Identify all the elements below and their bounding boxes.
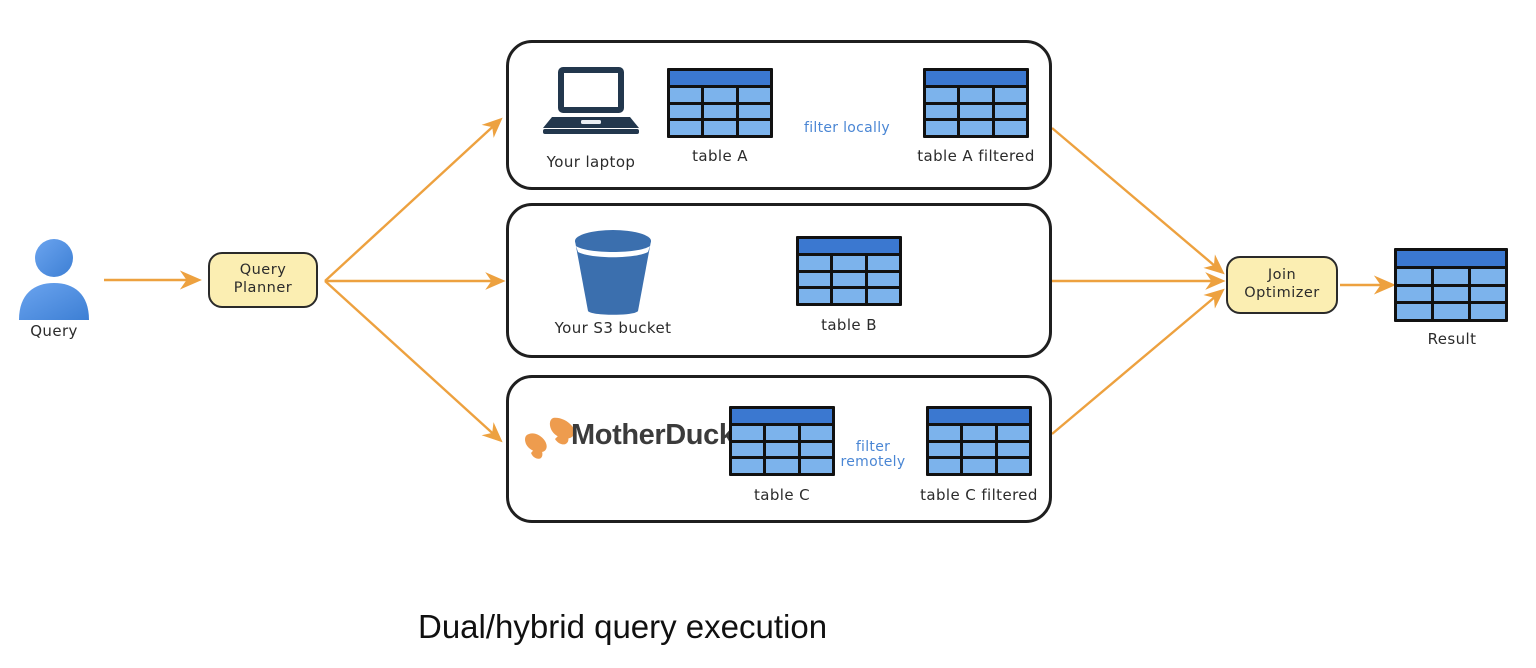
table-cell [960,105,991,119]
table-body-row [799,273,899,287]
arrow-planner-to-local [325,120,500,281]
user-avatar-icon [6,238,102,320]
table-header-row [1397,251,1505,266]
table-body-row [926,105,1026,119]
table-c-glyph [729,406,835,476]
table-cell [739,105,770,119]
laptop-icon [543,65,639,135]
result-table-glyph [1394,248,1508,322]
table-b-label: table B [786,316,912,334]
table-cell [670,105,701,119]
table-a-glyph [667,68,773,138]
table-cell [1434,287,1468,302]
table-cell [799,289,830,303]
table-cell [732,443,763,457]
join-optimizer-label-line2: Optimizer [1244,285,1319,303]
table-cell [766,443,797,457]
table-header-row [670,71,770,85]
result-group: Result [1392,248,1512,348]
table-header-row [926,71,1026,85]
table-c-label: table C [719,486,845,504]
table-body-row [670,121,770,135]
table-body-row [732,426,832,440]
s3-bucket-label: Your S3 bucket [531,319,695,337]
table-body-row [799,289,899,303]
query-planner-label-line1: Query [240,262,287,280]
table-body-row [926,88,1026,102]
table-cell [963,459,994,473]
table-body-row [926,121,1026,135]
table-cell [1471,287,1505,302]
table-cell [929,426,960,440]
table-cell [926,121,957,135]
laptop-label: Your laptop [519,153,663,171]
table-cell [833,256,864,270]
table-body-row [929,426,1029,440]
join-optimizer-box[interactable]: Join Optimizer [1226,256,1338,314]
diagram-caption: Dual/hybrid query execution [418,608,827,646]
table-cell [995,88,1026,102]
table-cell [1471,269,1505,284]
table-cell [1434,269,1468,284]
table-cell [926,88,957,102]
table-cell [739,121,770,135]
table-cell [960,88,991,102]
table-cell [929,459,960,473]
arrow-planner-to-motherduck [325,281,500,440]
table-body-row [929,443,1029,457]
table-cell [868,256,899,270]
table-c-filtered-glyph [926,406,1032,476]
table-cell [868,289,899,303]
filter-remotely-label: filter remotely [825,440,921,469]
table-body-row [732,443,832,457]
table-cell [766,459,797,473]
table-cell [739,88,770,102]
s3-bucket-icon [567,228,659,318]
table-c-filtered-label: table C filtered [904,486,1054,504]
table-body-row [670,105,770,119]
table-header-row [929,409,1029,423]
table-cell [998,459,1029,473]
table-a-filtered-label: table A filtered [901,147,1051,165]
table-a-label: table A [657,147,783,165]
table-cell [1397,304,1431,319]
table-cell [1397,287,1431,302]
table-cell [670,88,701,102]
table-body-row [1397,287,1505,302]
query-planner-label-line2: Planner [234,280,292,298]
table-cell [1434,304,1468,319]
table-cell [799,256,830,270]
motherduck-wordmark: MotherDuck [571,419,741,452]
table-body-row [929,459,1029,473]
table-cell [995,105,1026,119]
arrow-motherduck-to-optimizer [1052,291,1222,434]
result-label: Result [1392,330,1512,348]
panel-local-execution: Your laptop table A filter locally [506,40,1052,190]
table-a-filtered-glyph [923,68,1029,138]
table-cell [963,426,994,440]
panel-s3-execution: Your S3 bucket table B [506,203,1052,358]
table-cell [1397,269,1431,284]
table-cell [998,426,1029,440]
join-optimizer-label-line1: Join [1268,267,1296,285]
arrow-local-to-optimizer [1052,128,1222,272]
query-planner-box[interactable]: Query Planner [208,252,318,308]
table-body-row [1397,269,1505,284]
table-header-row [732,409,832,423]
table-cell [960,121,991,135]
diagram-canvas: Query Query Planner Your laptop [0,0,1536,668]
table-cell [998,443,1029,457]
table-cell [704,121,735,135]
table-cell [732,459,763,473]
table-b-glyph [796,236,902,306]
table-cell [868,273,899,287]
table-cell [929,443,960,457]
table-cell [833,289,864,303]
table-cell [995,121,1026,135]
table-cell [704,105,735,119]
filter-locally-label: filter locally [777,121,917,136]
table-cell [766,426,797,440]
table-body-row [670,88,770,102]
table-body-row [799,256,899,270]
table-cell [704,88,735,102]
table-body-row [732,459,832,473]
filter-remotely-label-line1: filter [825,440,921,455]
table-cell [670,121,701,135]
filter-remotely-label-line2: remotely [825,455,921,470]
table-body-row [1397,304,1505,319]
panel-motherduck-execution: MotherDuck table C filter r [506,375,1052,523]
query-source-group: Query [6,238,102,348]
table-cell [799,273,830,287]
query-source-label: Query [6,322,102,340]
table-cell [926,105,957,119]
table-cell [1471,304,1505,319]
table-cell [963,443,994,457]
table-cell [732,426,763,440]
table-cell [801,426,832,440]
table-header-row [799,239,899,253]
table-cell [833,273,864,287]
